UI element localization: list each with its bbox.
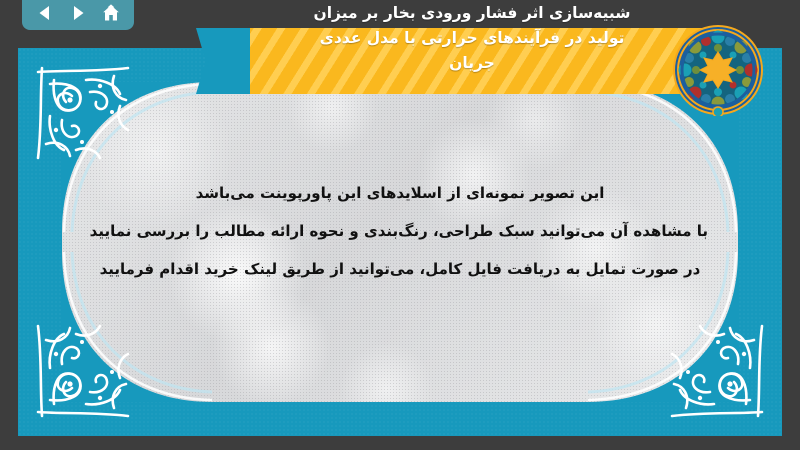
title-line-1: شبیه‌سازی اثر فشار ورودی بخار بر میزان	[314, 1, 631, 26]
next-slide-button[interactable]	[65, 1, 91, 25]
page-title: شبیه‌سازی اثر فشار ورودی بخار بر میزان ت…	[248, 0, 696, 104]
navigation-bar	[22, 0, 134, 30]
triangle-left-icon	[36, 4, 54, 22]
home-button[interactable]	[98, 1, 124, 25]
arabesque-ornament-top-left	[24, 54, 144, 174]
body-line-2: با مشاهده آن می‌توانید سبک طراحی، رنگ‌بن…	[92, 212, 708, 250]
home-icon	[101, 4, 121, 23]
arabesque-ornament-bottom-left	[24, 310, 144, 430]
arabesque-ornament-bottom-right	[656, 310, 776, 430]
title-line-3: جریان	[449, 51, 495, 76]
prev-slide-button[interactable]	[32, 1, 58, 25]
title-line-2: تولید در فرآیندهای حرارتی با مدل عددی	[320, 26, 625, 51]
slide-frame: این تصویر نمونه‌ای از اسلایدهای این پاور…	[18, 48, 782, 436]
triangle-right-icon	[69, 4, 87, 22]
slide-content-area: این تصویر نمونه‌ای از اسلایدهای این پاور…	[62, 82, 738, 402]
body-line-3: در صورت تمایل به دریافت فایل کامل، می‌تو…	[92, 250, 708, 288]
banner-tail	[196, 28, 250, 94]
slide-viewer: شبیه‌سازی اثر فشار ورودی بخار بر میزان ت…	[0, 0, 800, 450]
body-line-1: این تصویر نمونه‌ای از اسلایدهای این پاور…	[92, 174, 708, 212]
decorative-medallion	[672, 24, 764, 116]
slide-body-text: این تصویر نمونه‌ای از اسلایدهای این پاور…	[62, 174, 738, 288]
